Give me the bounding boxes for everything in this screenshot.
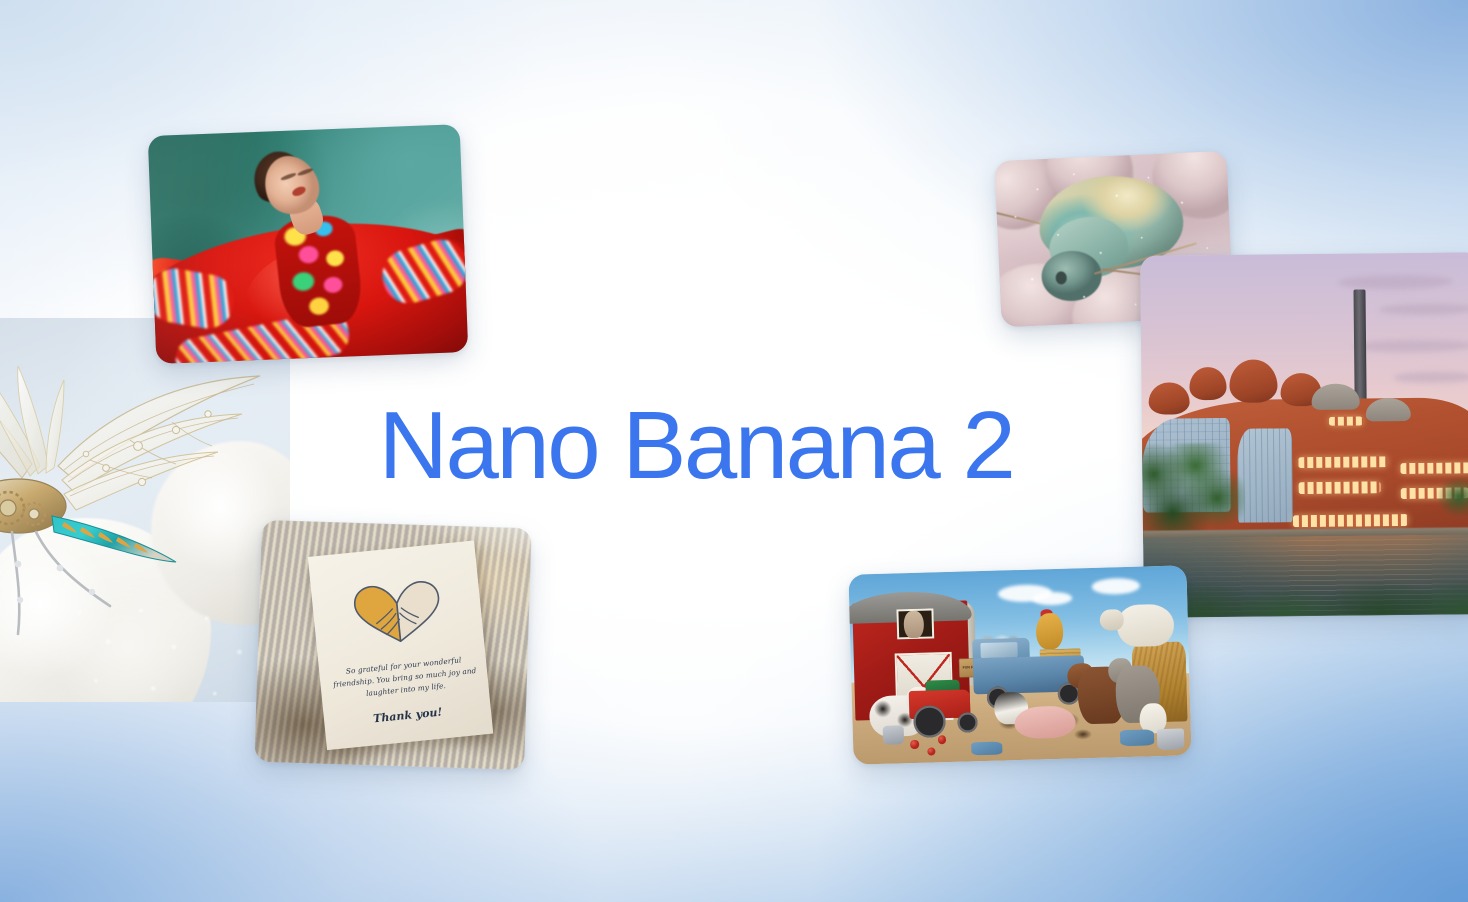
hands-heart-icon [342,570,453,654]
llama [904,611,925,638]
goat-head [1100,609,1124,631]
cloud [1379,303,1468,315]
image-tile-dragonfly[interactable] [0,318,290,702]
farm-scene: FUN FARM [848,565,1191,764]
truck-window [981,642,1019,658]
image-tile-dancer[interactable] [148,124,469,364]
cloth [971,742,1002,756]
dancer-scene [148,124,469,364]
tree-cluster [1428,477,1468,528]
image-tile-thank-you-card[interactable]: So grateful for your wonderful friendshi… [254,520,531,770]
cloth [1120,730,1154,746]
watering-can [883,725,904,745]
pig [1014,705,1076,739]
card-closing: Thank you! [324,700,492,730]
thank-you-scene: So grateful for your wonderful friendshi… [254,520,531,770]
apple [937,735,945,744]
roof-dome [1189,367,1227,400]
goat [1116,604,1175,647]
hero-canvas: So grateful for your wonderful friendshi… [0,0,1468,902]
bucket [1157,729,1185,751]
card-message: So grateful for your wonderful friendshi… [329,653,481,703]
page-title: Nano Banana 2 [0,398,1430,494]
foreground-reeds [1143,542,1468,618]
image-tile-farm[interactable]: FUN FARM [848,565,1191,764]
greeting-card: So grateful for your wonderful friendshi… [308,541,494,750]
motion-blur-overlay [148,124,469,364]
mechanical-dragonfly-icon [0,318,290,702]
cloud [1393,372,1468,383]
chicken [1035,612,1063,649]
lit-window-row [1292,514,1408,528]
apple [911,740,919,749]
